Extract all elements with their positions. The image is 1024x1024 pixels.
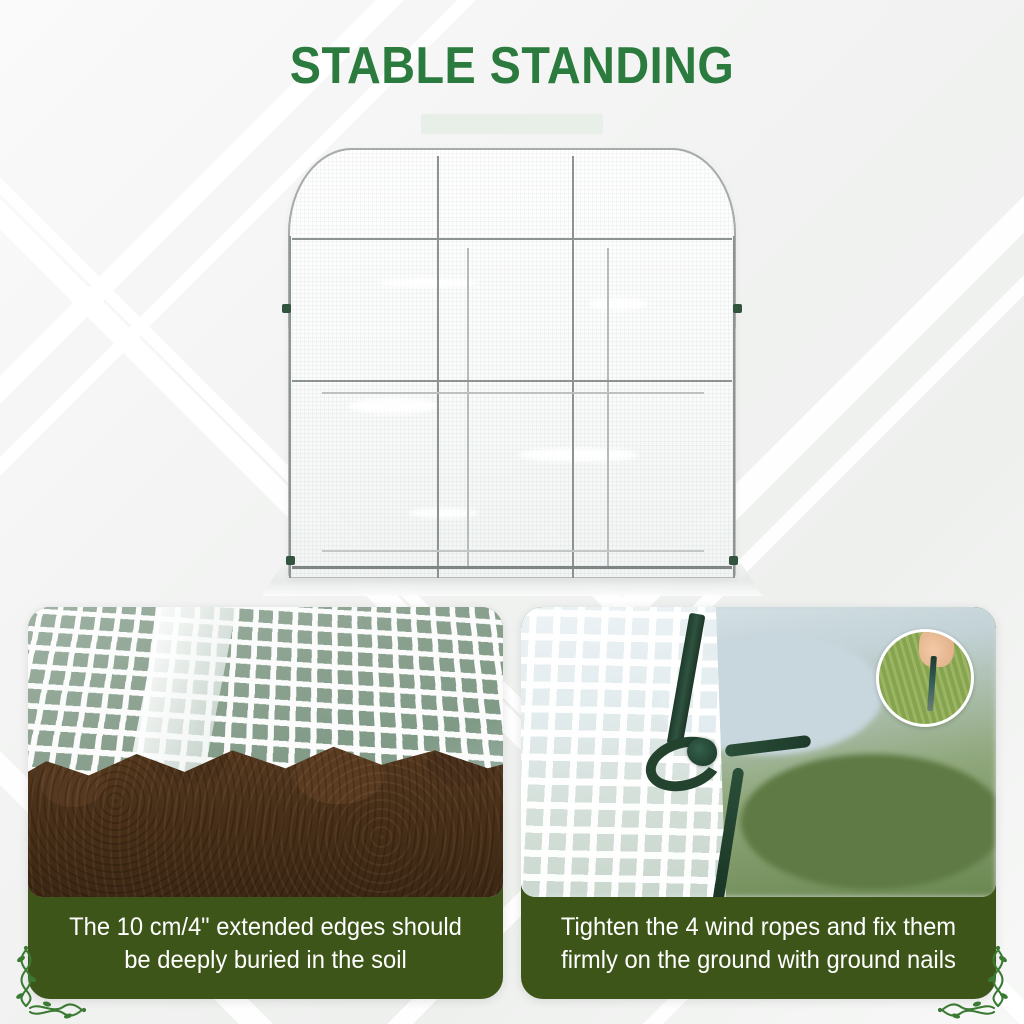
caption-text-wind-ropes: Tighten the 4 wind ropes and fix them fi… [558,911,960,978]
rope-anchor-bottom-right [729,556,738,565]
frame-post-right [733,236,735,578]
frame-rail-top [292,238,732,240]
ground-nail-in-grass-inset [876,629,974,727]
title-accent-bar [421,114,603,134]
rope-anchor-right [733,304,742,313]
infographic-page: STABLE STANDING [0,0,1024,1024]
caption-area-left: The 10 cm/4" extended edges should be de… [28,897,503,999]
header: STABLE STANDING [0,0,1024,134]
hand [919,629,954,667]
rope-anchor-bottom-left [286,556,295,565]
hero-product-image [262,148,762,596]
vine-flourish-icon-bottom-right [932,934,1018,1020]
wind-rope-knot-photo [521,607,996,897]
frame-rear-rail-middle [322,392,704,394]
rope-knot [687,738,717,766]
frame-mullion-2 [572,156,574,578]
frame-rail-middle [292,380,732,382]
frame-post-left [289,236,291,578]
caption-text-buried-edges: The 10 cm/4" extended edges should be de… [65,911,467,978]
frame-rear-mullion-2 [607,248,609,566]
feature-card-wind-ropes: Tighten the 4 wind ropes and fix them fi… [521,607,996,999]
frame-rail-bottom [292,566,732,569]
vine-flourish-icon-bottom-left [6,934,92,1020]
soil-over-extended-edge-photo [28,607,503,897]
page-title: STABLE STANDING [51,40,973,92]
frame-rear-mullion-1 [467,248,469,566]
frame-rear-rail-bottom [322,550,704,552]
caption-area-right: Tighten the 4 wind ropes and fix them fi… [521,897,996,999]
frame-mullion-1 [437,156,439,578]
feature-card-buried-edges: The 10 cm/4" extended edges should be de… [28,607,503,999]
rope-anchor-left [282,304,291,313]
